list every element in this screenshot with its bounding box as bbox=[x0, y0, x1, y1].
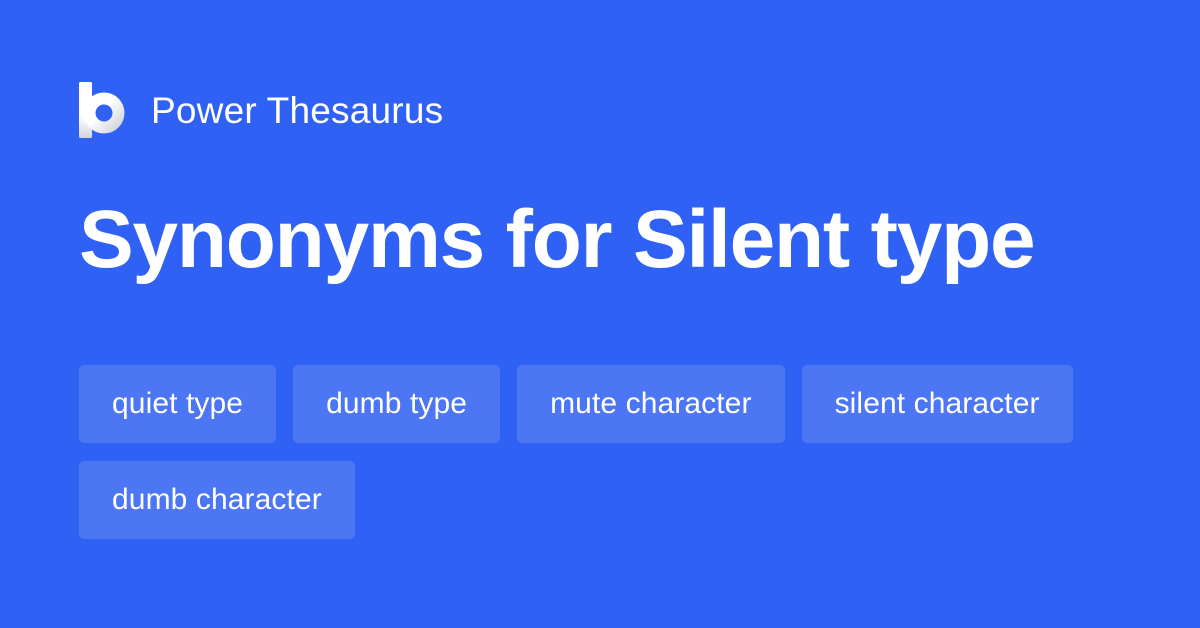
synonym-chip[interactable]: dumb character bbox=[79, 461, 355, 539]
synonyms-share-card: Power Thesaurus Synonyms for Silent type… bbox=[0, 0, 1200, 628]
synonym-chip[interactable]: mute character bbox=[517, 365, 784, 443]
brand-name: Power Thesaurus bbox=[151, 92, 443, 129]
synonym-chip[interactable]: dumb type bbox=[293, 365, 500, 443]
brand-header[interactable]: Power Thesaurus bbox=[79, 82, 443, 138]
synonym-chip-list: quiet type dumb type mute character sile… bbox=[79, 365, 1119, 539]
synonym-chip[interactable]: quiet type bbox=[79, 365, 276, 443]
page-title: Synonyms for Silent type bbox=[79, 199, 1034, 281]
power-thesaurus-logo-icon bbox=[79, 82, 129, 138]
synonym-chip[interactable]: silent character bbox=[802, 365, 1073, 443]
